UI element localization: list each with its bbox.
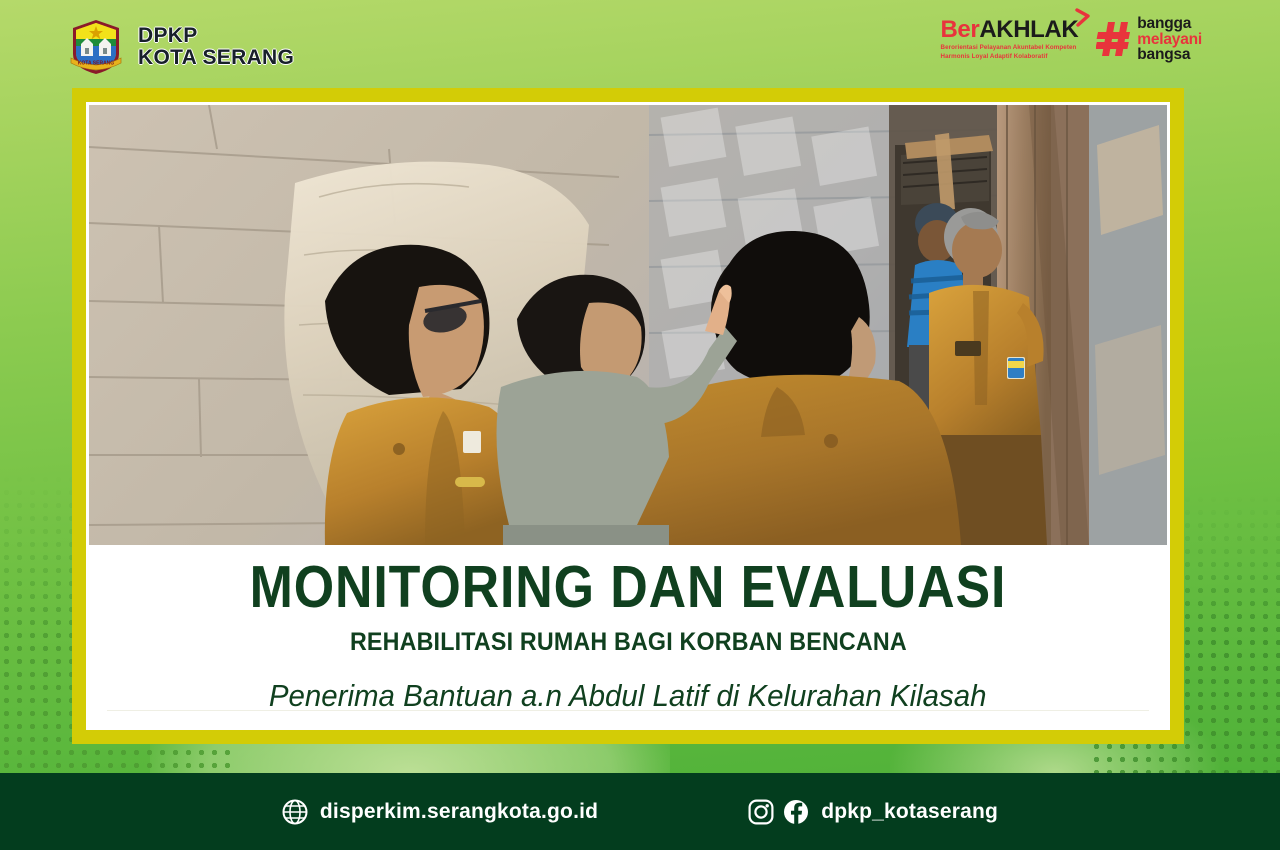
recipient-line: Penerima Bantuan a.n Abdul Latif di Kelu… [269, 678, 987, 714]
kota-serang-city-emblem-icon: KOTA SERANG [68, 18, 124, 76]
partner-logos: BerAKHLAK Berorientasi Pelayanan Akuntab… [941, 16, 1203, 63]
bangga-line1: bangga [1137, 16, 1202, 32]
bangga-melayani-bangsa-logo: bangga melayani bangsa [1096, 16, 1202, 63]
globe-icon [282, 799, 308, 825]
org-name-line1: DPKP [138, 25, 294, 47]
berakhlak-logo: BerAKHLAK Berorientasi Pelayanan Akuntab… [941, 16, 1079, 62]
page-header: KOTA SERANG DPKP KOTA SERANG BerAKHLAK B… [0, 0, 1280, 88]
hashtag-icon [1096, 20, 1130, 58]
berakhlak-ber: Ber [941, 16, 980, 43]
page-footer: disperkim.serangkota.go.id dpkp_kotasera… [0, 773, 1280, 850]
social-block[interactable]: dpkp_kotaserang [748, 799, 998, 825]
bangga-line2: melayani [1137, 32, 1202, 48]
website-block[interactable]: disperkim.serangkota.go.id [282, 799, 598, 825]
instagram-icon[interactable] [748, 799, 774, 825]
facebook-icon[interactable] [783, 799, 809, 825]
berakhlak-values-line1: Berorientasi Pelayanan Akuntabel Kompete… [941, 44, 1079, 53]
berakhlak-akhlak: AKHLAK [979, 16, 1078, 43]
brand-text: DPKP KOTA SERANG [138, 25, 294, 70]
bangga-wordmark: bangga melayani bangsa [1137, 16, 1202, 63]
social-handle[interactable]: dpkp_kotaserang [821, 800, 998, 824]
content-card-frame: MONITORING DAN EVALUASI REHABILITASI RUM… [72, 88, 1184, 744]
bangga-line3: bangsa [1137, 47, 1202, 63]
berakhlak-values-line2: Harmonis Loyal Adaptif Kolaboratif [941, 53, 1079, 62]
page-title: MONITORING DAN EVALUASI [250, 557, 1007, 619]
social-icons [748, 799, 809, 825]
caption-divider [107, 710, 1149, 711]
berakhlak-wordmark: BerAKHLAK [941, 16, 1079, 44]
svg-text:KOTA SERANG: KOTA SERANG [78, 61, 115, 67]
brand-block: KOTA SERANG DPKP KOTA SERANG [68, 18, 294, 76]
caption-area: MONITORING DAN EVALUASI REHABILITASI RUM… [89, 545, 1167, 727]
org-name-line2: KOTA SERANG [138, 47, 294, 69]
swoosh-icon [1075, 7, 1091, 27]
page-subtitle: REHABILITASI RUMAH BAGI KORBAN BENCANA [350, 628, 907, 657]
website-url[interactable]: disperkim.serangkota.go.id [320, 800, 598, 824]
monitoring-photo [89, 105, 1167, 545]
content-card: MONITORING DAN EVALUASI REHABILITASI RUM… [86, 102, 1170, 730]
